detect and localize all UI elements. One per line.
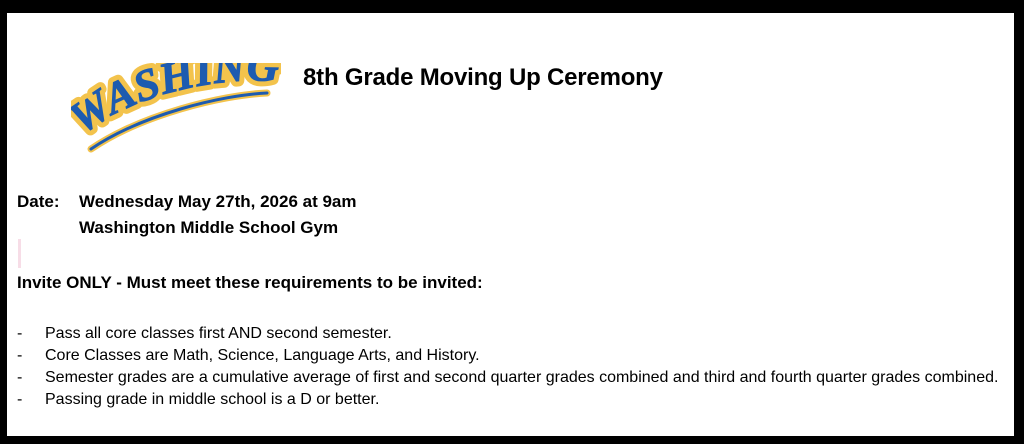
requirement-text: Semester grades are a cumulative average… xyxy=(45,367,1007,388)
requirement-text: Pass all core classes first AND second s… xyxy=(45,323,1007,344)
requirement-text: Core Classes are Math, Science, Language… xyxy=(45,345,1007,366)
svg-text:WASHINGTON: WASHINGTON xyxy=(71,63,280,143)
date-value: Wednesday May 27th, 2026 at 9am xyxy=(79,189,357,215)
header-area: WASHINGTON WASHINGTON 8th Grade Moving U… xyxy=(7,13,1014,173)
venue-value: Washington Middle School Gym xyxy=(79,215,338,241)
flyer-frame: WASHINGTON WASHINGTON 8th Grade Moving U… xyxy=(0,0,1024,444)
flyer-page: WASHINGTON WASHINGTON 8th Grade Moving U… xyxy=(7,13,1014,436)
date-label: Date: xyxy=(10,189,79,215)
requirement-item: -Core Classes are Math, Science, Languag… xyxy=(17,345,1007,366)
page-title: 8th Grade Moving Up Ceremony xyxy=(303,63,863,93)
washington-school-logo-icon: WASHINGTON WASHINGTON xyxy=(71,63,281,163)
requirements-list: -Pass all core classes first AND second … xyxy=(17,323,1007,411)
stray-mark xyxy=(18,239,21,268)
venue-row: Washington Middle School Gym xyxy=(10,215,910,241)
bullet-dash-icon: - xyxy=(17,367,45,388)
event-details: Date: Wednesday May 27th, 2026 at 9am Wa… xyxy=(10,189,910,241)
requirement-item: -Passing grade in middle school is a D o… xyxy=(17,389,1007,410)
bullet-dash-icon: - xyxy=(17,345,45,366)
requirement-item: -Semester grades are a cumulative averag… xyxy=(17,367,1007,388)
requirement-item: -Pass all core classes first AND second … xyxy=(17,323,1007,344)
date-row: Date: Wednesday May 27th, 2026 at 9am xyxy=(10,189,910,215)
requirements-heading: Invite ONLY - Must meet these requiremen… xyxy=(17,271,483,295)
requirement-text: Passing grade in middle school is a D or… xyxy=(45,389,1007,410)
bullet-dash-icon: - xyxy=(17,323,45,344)
bullet-dash-icon: - xyxy=(17,389,45,410)
